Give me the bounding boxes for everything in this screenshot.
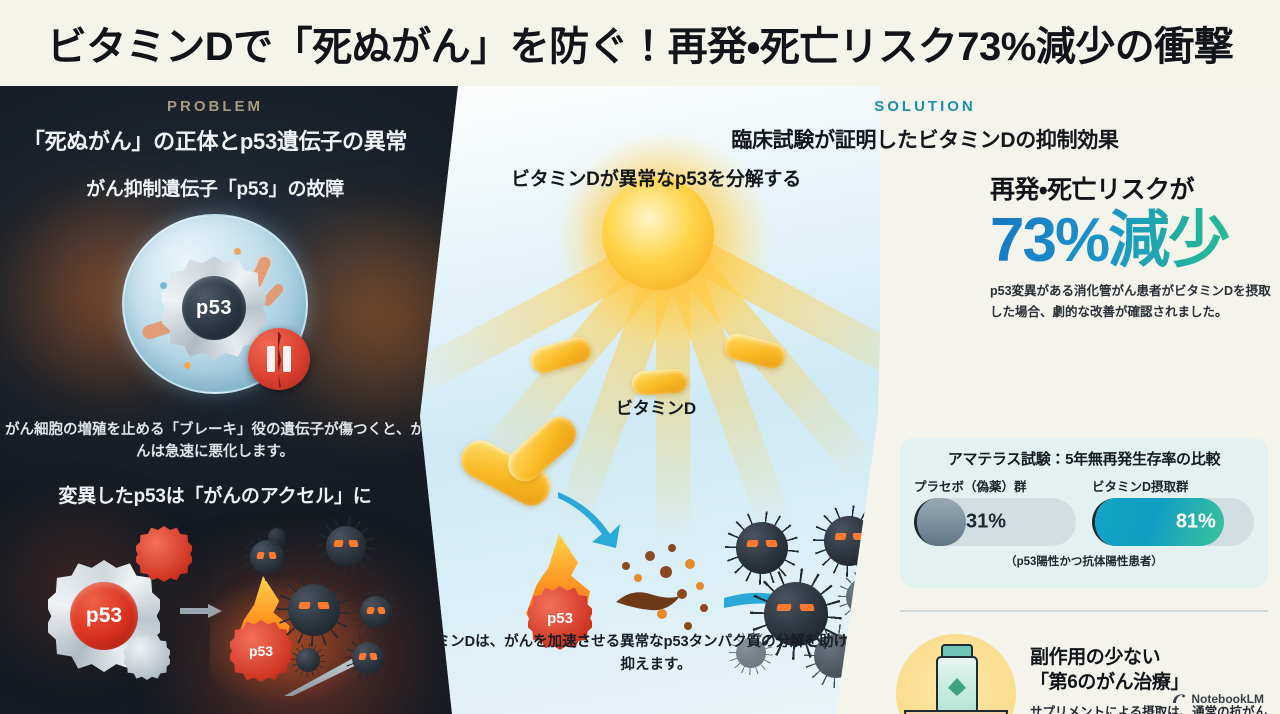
hand-icon (904, 710, 1008, 714)
pause-bar-icon (267, 346, 275, 372)
particle-icon (160, 282, 167, 289)
bar-value: 81% (1176, 511, 1216, 534)
problem-heading: 「死ぬがん」の正体とp53遺伝子の異常 (0, 124, 430, 156)
bar-label: プラセボ（偽薬）群 (914, 476, 1076, 495)
survival-comparison-chart: アマテラス試験：5年無再発生存率の比較 プラセボ（偽薬）群 31% ビタミンD摂… (900, 438, 1268, 588)
bar-group-placebo: プラセボ（偽薬）群 31% (914, 476, 1076, 546)
bar-label: ビタミンD摂取群 (1092, 476, 1254, 495)
fire-zone: p53 (210, 530, 426, 710)
cancer-cell-icon (326, 526, 366, 566)
bar-track: 81% (1092, 498, 1254, 546)
section-divider (900, 610, 1268, 612)
vitamin-d-label: ビタミンD (406, 394, 906, 419)
p53-gene-label: p53 (182, 276, 246, 340)
crack-icon (278, 331, 281, 387)
cancer-cell-icon (268, 528, 286, 546)
notebooklm-logo-icon (1172, 693, 1186, 705)
gear-icon (136, 526, 192, 582)
problem-section1-title: がん抑制遺伝子「p53」の故障 (0, 174, 430, 201)
pause-bar-icon (283, 346, 291, 372)
solution-kicker: SOLUTION (580, 98, 1270, 115)
page-title: ビタミンDで「死ぬがん」を防ぐ！再発・死亡リスク73%減少の衝撃 (47, 14, 1234, 72)
solution-center-panel: ビタミンDが異常なp53を分解する ビタミンD p53 (406, 86, 906, 714)
p53-accelerator-illustration: p53 p53 (14, 522, 426, 712)
center-caption: ビタミンDは、がんを加速させる異常なp53タンパク質の分解を助け、増殖を抑えます… (406, 631, 906, 677)
watermark-label: NotebookLM (1191, 692, 1264, 706)
title-bar: ビタミンDで「死ぬがん」を防ぐ！再発・死亡リスク73%減少の衝撃 (0, 0, 1280, 86)
particle-icon (184, 362, 191, 369)
stat-value: 73%減少 (990, 208, 1280, 273)
broken-brake-icon (248, 328, 310, 390)
stat-kicker: 再発・死亡リスクが (990, 170, 1280, 206)
solution-heading: 臨床試験が証明したビタミンDの抑制効果 (580, 124, 1270, 154)
bar-fill (917, 498, 966, 546)
cancer-cell-icon (360, 596, 392, 628)
particle-icon (234, 248, 241, 255)
cancer-cell-icon (846, 578, 884, 616)
vitamin-pill-icon (631, 368, 689, 396)
cancer-cell-icon (288, 584, 340, 636)
center-heading: ビタミンDが異常なp53を分解する (406, 164, 906, 191)
chart-note: （p53陽性かつ抗体陽性患者） (914, 553, 1254, 569)
problem-kicker: PROBLEM (0, 98, 430, 115)
stage: PROBLEM 「死ぬがん」の正体とp53遺伝子の異常 がん抑制遺伝子「p53」… (0, 86, 1280, 714)
bottle-cap-icon (941, 644, 973, 658)
supplement-in-hand-icon (896, 634, 1016, 714)
problem-section2-title: 変異したp53は「がんのアクセル」に (0, 481, 430, 508)
sun-icon (602, 178, 714, 290)
infographic-poster: ビタミンDで「死ぬがん」を防ぐ！再発・死亡リスク73%減少の衝撃 PROBLEM… (0, 0, 1280, 714)
side-effects-title-line1: 副作用の少ない (1030, 647, 1160, 668)
cancer-cell-icon (296, 648, 320, 672)
headline-stat: 再発・死亡リスクが 73%減少 p53変異がある消化管がん患者がビタミンDを摂取… (990, 170, 1280, 322)
p53-cell-illustration: p53 (108, 204, 328, 404)
bar-group-vitamind: ビタミンD摂取群 81% (1092, 476, 1254, 546)
p53-gene-label: p53 (70, 582, 138, 650)
solution-header: SOLUTION 臨床試験が証明したビタミンDの抑制効果 (580, 98, 1270, 154)
cancer-cell-icon (352, 642, 384, 674)
watermark: NotebookLM (1172, 692, 1264, 706)
bar-track: 31% (914, 498, 1076, 546)
solution-right-panel: SOLUTION 臨床試験が証明したビタミンDの抑制効果 再発・死亡リスクが 7… (880, 86, 1280, 714)
side-effects-title-line2: 「第6のがん治療」 (1030, 672, 1189, 693)
cancer-cell-icon (736, 522, 788, 574)
bar-value: 31% (966, 511, 1006, 534)
problem-section1-caption: がん細胞の増殖を止める「ブレーキ」役の遺伝子が傷つくと、がんは急速に悪化します。 (0, 419, 430, 464)
cancer-cell-icon (824, 516, 874, 566)
problem-header: PROBLEM 「死ぬがん」の正体とp53遺伝子の異常 (0, 98, 430, 156)
side-effects-title: 副作用の少ない 「第6のがん治療」 (1030, 646, 1268, 695)
stat-note: p53変異がある消化管がん患者がビタミンDを摂取した場合、劇的な改善が確認されま… (990, 281, 1280, 322)
chart-bars: プラセボ（偽薬）群 31% ビタミンD摂取群 81% (914, 476, 1254, 546)
problem-panel: PROBLEM 「死ぬがん」の正体とp53遺伝子の異常 がん抑制遺伝子「p53」… (0, 86, 470, 714)
gear-icon (124, 634, 170, 680)
chart-title: アマテラス試験：5年無再発生存率の比較 (914, 448, 1254, 469)
